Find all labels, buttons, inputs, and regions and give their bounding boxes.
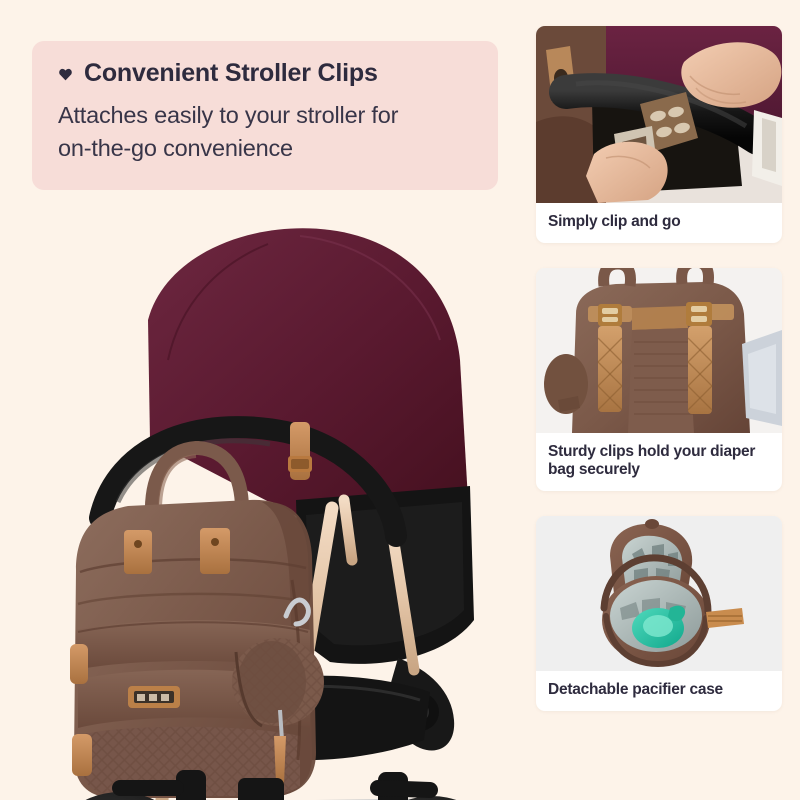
strap-left bbox=[598, 326, 622, 412]
card-caption-sturdy-clips: Sturdy clips hold your diaper bag secure… bbox=[536, 433, 782, 491]
card-caption-clip-and-go: Simply clip and go bbox=[536, 203, 782, 243]
heart-icon bbox=[58, 67, 73, 82]
card-photo-pacifier-case bbox=[536, 516, 782, 671]
headline-subtitle-line-2: on-the-go convenience bbox=[58, 132, 472, 165]
headline-banner: Convenient Stroller Clips Attaches easil… bbox=[32, 41, 498, 190]
headline-subtitle-line-1: Attaches easily to your stroller for bbox=[58, 99, 472, 132]
card-photo-sturdy-clips bbox=[536, 268, 782, 433]
bag-side-pull-left bbox=[70, 644, 88, 684]
bag-leather-tab-left bbox=[124, 530, 152, 574]
infographic-page: Convenient Stroller Clips Attaches easil… bbox=[0, 0, 800, 800]
feature-card-pacifier-case[interactable]: Detachable pacifier case bbox=[536, 516, 782, 711]
bag-tassel bbox=[274, 736, 286, 784]
feature-card-column: Simply clip and go bbox=[536, 26, 782, 711]
metal-clip-right bbox=[686, 302, 712, 326]
hand-lower bbox=[586, 142, 668, 203]
card-caption-pacifier-case: Detachable pacifier case bbox=[536, 671, 782, 711]
card-photo-clip-and-go bbox=[536, 26, 782, 203]
hero-illustration bbox=[0, 200, 530, 800]
bag-leather-tab-right bbox=[200, 528, 230, 574]
headline-subtitle: Attaches easily to your stroller for on-… bbox=[58, 99, 472, 166]
page-title: Convenient Stroller Clips bbox=[84, 59, 378, 88]
pacifier-case-attached bbox=[232, 638, 324, 726]
feature-card-sturdy-clips[interactable]: Sturdy clips hold your diaper bag secure… bbox=[536, 268, 782, 491]
strap-right bbox=[688, 326, 712, 414]
stroller-brake-pedal bbox=[238, 778, 284, 800]
feature-card-clip-and-go[interactable]: Simply clip and go bbox=[536, 26, 782, 243]
headline-title-row: Convenient Stroller Clips bbox=[58, 59, 472, 88]
metal-clip-left bbox=[598, 304, 622, 326]
bag-side-pull-bottom-left bbox=[72, 734, 92, 776]
hero-product-image bbox=[0, 200, 530, 800]
